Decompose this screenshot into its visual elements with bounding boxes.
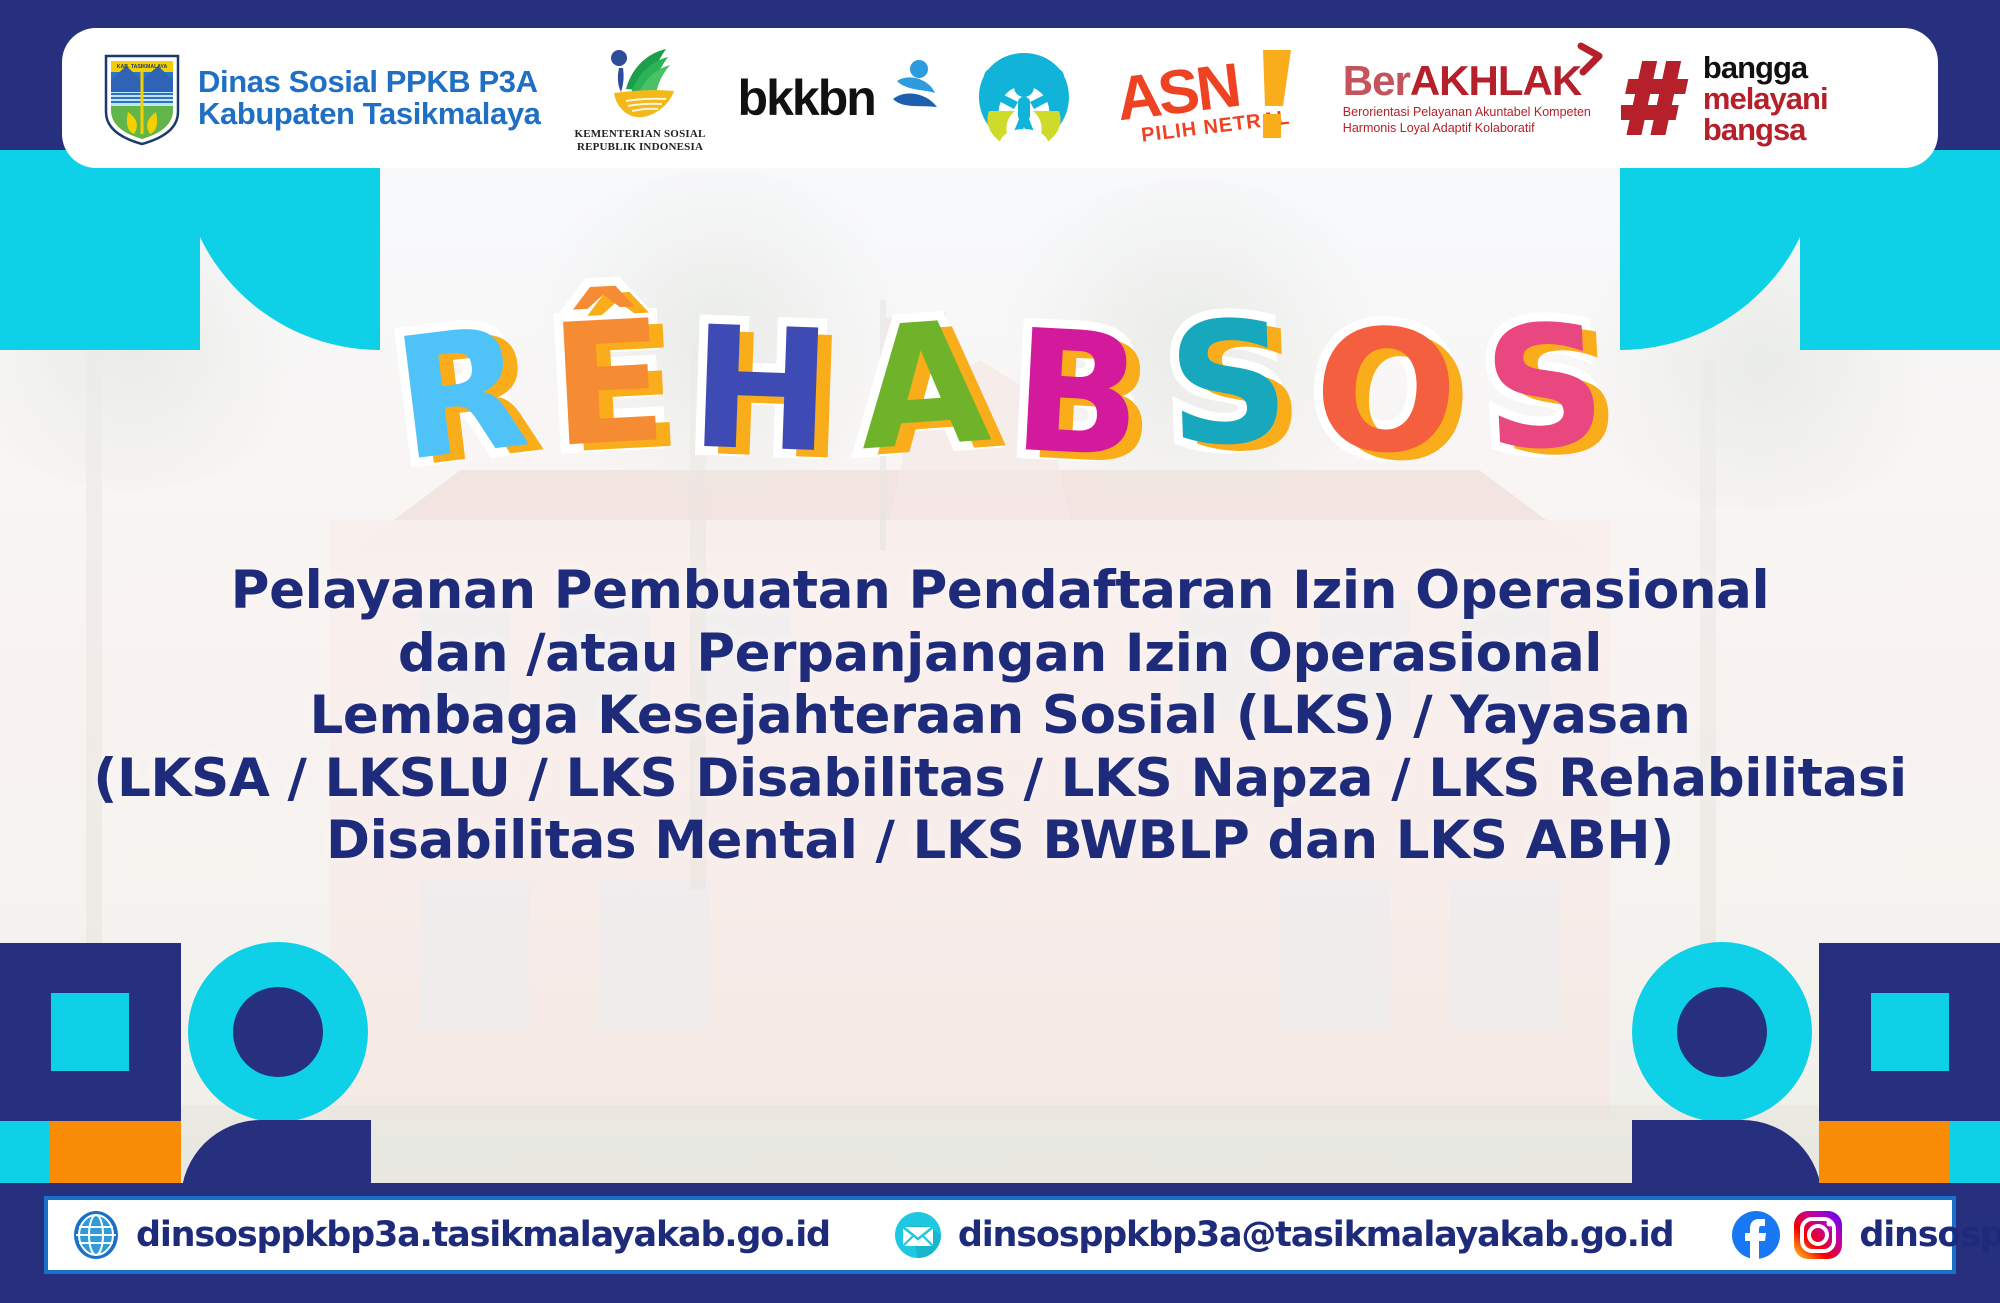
body-line-2: dan /atau Perpanjangan Izin Operasional (0, 623, 2000, 686)
deco-bottom-right-circle-center (1677, 987, 1767, 1077)
kemensos-icon (592, 43, 688, 121)
body-line-3: Lembaga Kesejahteraan Sosial (LKS) / Yay… (0, 685, 2000, 748)
bangga-line-3: bangsa (1703, 114, 1828, 145)
berakhlak-tagline-line-1: Berorientasi Pelayanan Akuntabel Kompete… (1343, 105, 1591, 121)
title-letter-2: Ê (546, 297, 669, 471)
logo-kabupaten-tasikmalaya: KAB. TASIKMALAYA Dinas Sosial PPKB P3A K… (86, 50, 541, 146)
body-line-4: (LKSA / LKSLU / LKS Disabilitas / LKS Na… (0, 748, 2000, 811)
logo-bkkbn: bkkbn (738, 59, 943, 137)
asn-icon: ASN PILIH NETRAL (1113, 44, 1313, 148)
department-name: Dinas Sosial PPKB P3A Kabupaten Tasikmal… (198, 66, 541, 130)
title-letter-1: R (387, 303, 536, 486)
title-letter-6: S (1165, 298, 1292, 470)
kemensos-caption-line-1: KEMENTERIAN SOSIAL (575, 128, 706, 141)
contact-social[interactable]: dinsosppkbp3a.kabtasik (1729, 1208, 2000, 1262)
title-letter-5: B (1009, 307, 1146, 481)
title-letter-4: A (852, 298, 993, 475)
window (1450, 880, 1560, 1030)
footer-contact-bar: dinsosppkbp3a.tasikmalayakab.go.id dinso… (44, 1196, 1956, 1274)
social-handle-text: dinsosppkbp3a.kabtasik (1859, 1215, 2000, 1255)
contact-email[interactable]: dinsosppkbp3a@tasikmalayakab.go.id (892, 1209, 1674, 1261)
department-line-2: Kabupaten Tasikmalaya (198, 98, 541, 130)
logo-bangga-kencana (969, 47, 1079, 149)
header-logo-bar: KAB. TASIKMALAYA Dinas Sosial PPKB P3A K… (62, 28, 1938, 168)
logo-asn-pilih-netral: ASN PILIH NETRAL (1113, 44, 1313, 153)
bangga-wordmark: bangga melayani bangsa (1703, 52, 1828, 145)
logo-bangga-melayani-bangsa: bangga melayani bangsa (1621, 52, 1828, 145)
title-letter-3: H (688, 304, 834, 477)
bangga-line-2: melayani (1703, 83, 1828, 114)
berakhlak-main: AKHLAK (1410, 57, 1581, 104)
poster-title-rehabsos: RÊHABSOS (0, 300, 2000, 468)
website-text: dinsosppkbp3a.tasikmalayakab.go.id (136, 1215, 830, 1255)
envelope-icon (892, 1209, 944, 1261)
deco-bottom-right-orange (1819, 1121, 1950, 1183)
facebook-icon[interactable] (1729, 1208, 1783, 1262)
globe-icon (70, 1209, 122, 1261)
hashtag-icon (1621, 57, 1697, 139)
email-text: dinsosppkbp3a@tasikmalayakab.go.id (958, 1215, 1674, 1255)
berakhlak-tagline: Berorientasi Pelayanan Akuntabel Kompete… (1343, 105, 1591, 136)
crest-caption: KAB. TASIKMALAYA (117, 64, 168, 70)
poster-canvas: KAB. TASIKMALAYA Dinas Sosial PPKB P3A K… (0, 0, 2000, 1303)
berakhlak-wordmark: BerAKHLAK (1343, 60, 1591, 102)
kemensos-caption-line-2: REPUBLIK INDONESIA (575, 141, 706, 154)
bkkbn-wordmark: bkkbn (738, 69, 875, 127)
instagram-icon[interactable] (1791, 1208, 1845, 1262)
tasikmalaya-crest-icon: KAB. TASIKMALAYA (102, 50, 182, 146)
deco-bottom-left-circle-center (233, 987, 323, 1077)
deco-bottom-right-inner-square (1871, 993, 1949, 1071)
poster-body-text: Pelayanan Pembuatan Pendaftaran Izin Ope… (0, 560, 2000, 873)
contact-website[interactable]: dinsosppkbp3a.tasikmalayakab.go.id (70, 1209, 830, 1261)
berakhlak-tagline-line-2: Harmonis Loyal Adaptif Kolaboratif (1343, 121, 1591, 137)
bangga-line-1: bangga (1703, 52, 1828, 83)
window (1280, 880, 1390, 1030)
berakhlak-prefix: Ber (1343, 57, 1410, 104)
berakhlak-chevron-icon (1573, 42, 1607, 76)
deco-bottom-left-orange (50, 1121, 181, 1183)
title-letter-7: O (1309, 303, 1463, 481)
window (420, 880, 530, 1030)
bkkbn-mark-icon (879, 59, 943, 121)
deco-bottom-left-inner-square (51, 993, 129, 1071)
logo-kementerian-sosial: KEMENTERIAN SOSIAL REPUBLIK INDONESIA (575, 43, 706, 153)
kemensos-caption: KEMENTERIAN SOSIAL REPUBLIK INDONESIA (575, 128, 706, 153)
window (600, 880, 710, 1030)
bangga-kencana-icon (969, 47, 1079, 149)
department-line-1: Dinas Sosial PPKB P3A (198, 66, 541, 98)
body-line-5: Disabilitas Mental / LKS BWBLP dan LKS A… (0, 810, 2000, 873)
title-letter-8: S (1480, 301, 1610, 475)
body-line-1: Pelayanan Pembuatan Pendaftaran Izin Ope… (0, 560, 2000, 623)
logo-berakhlak: BerAKHLAK Berorientasi Pelayanan Akuntab… (1343, 60, 1591, 136)
